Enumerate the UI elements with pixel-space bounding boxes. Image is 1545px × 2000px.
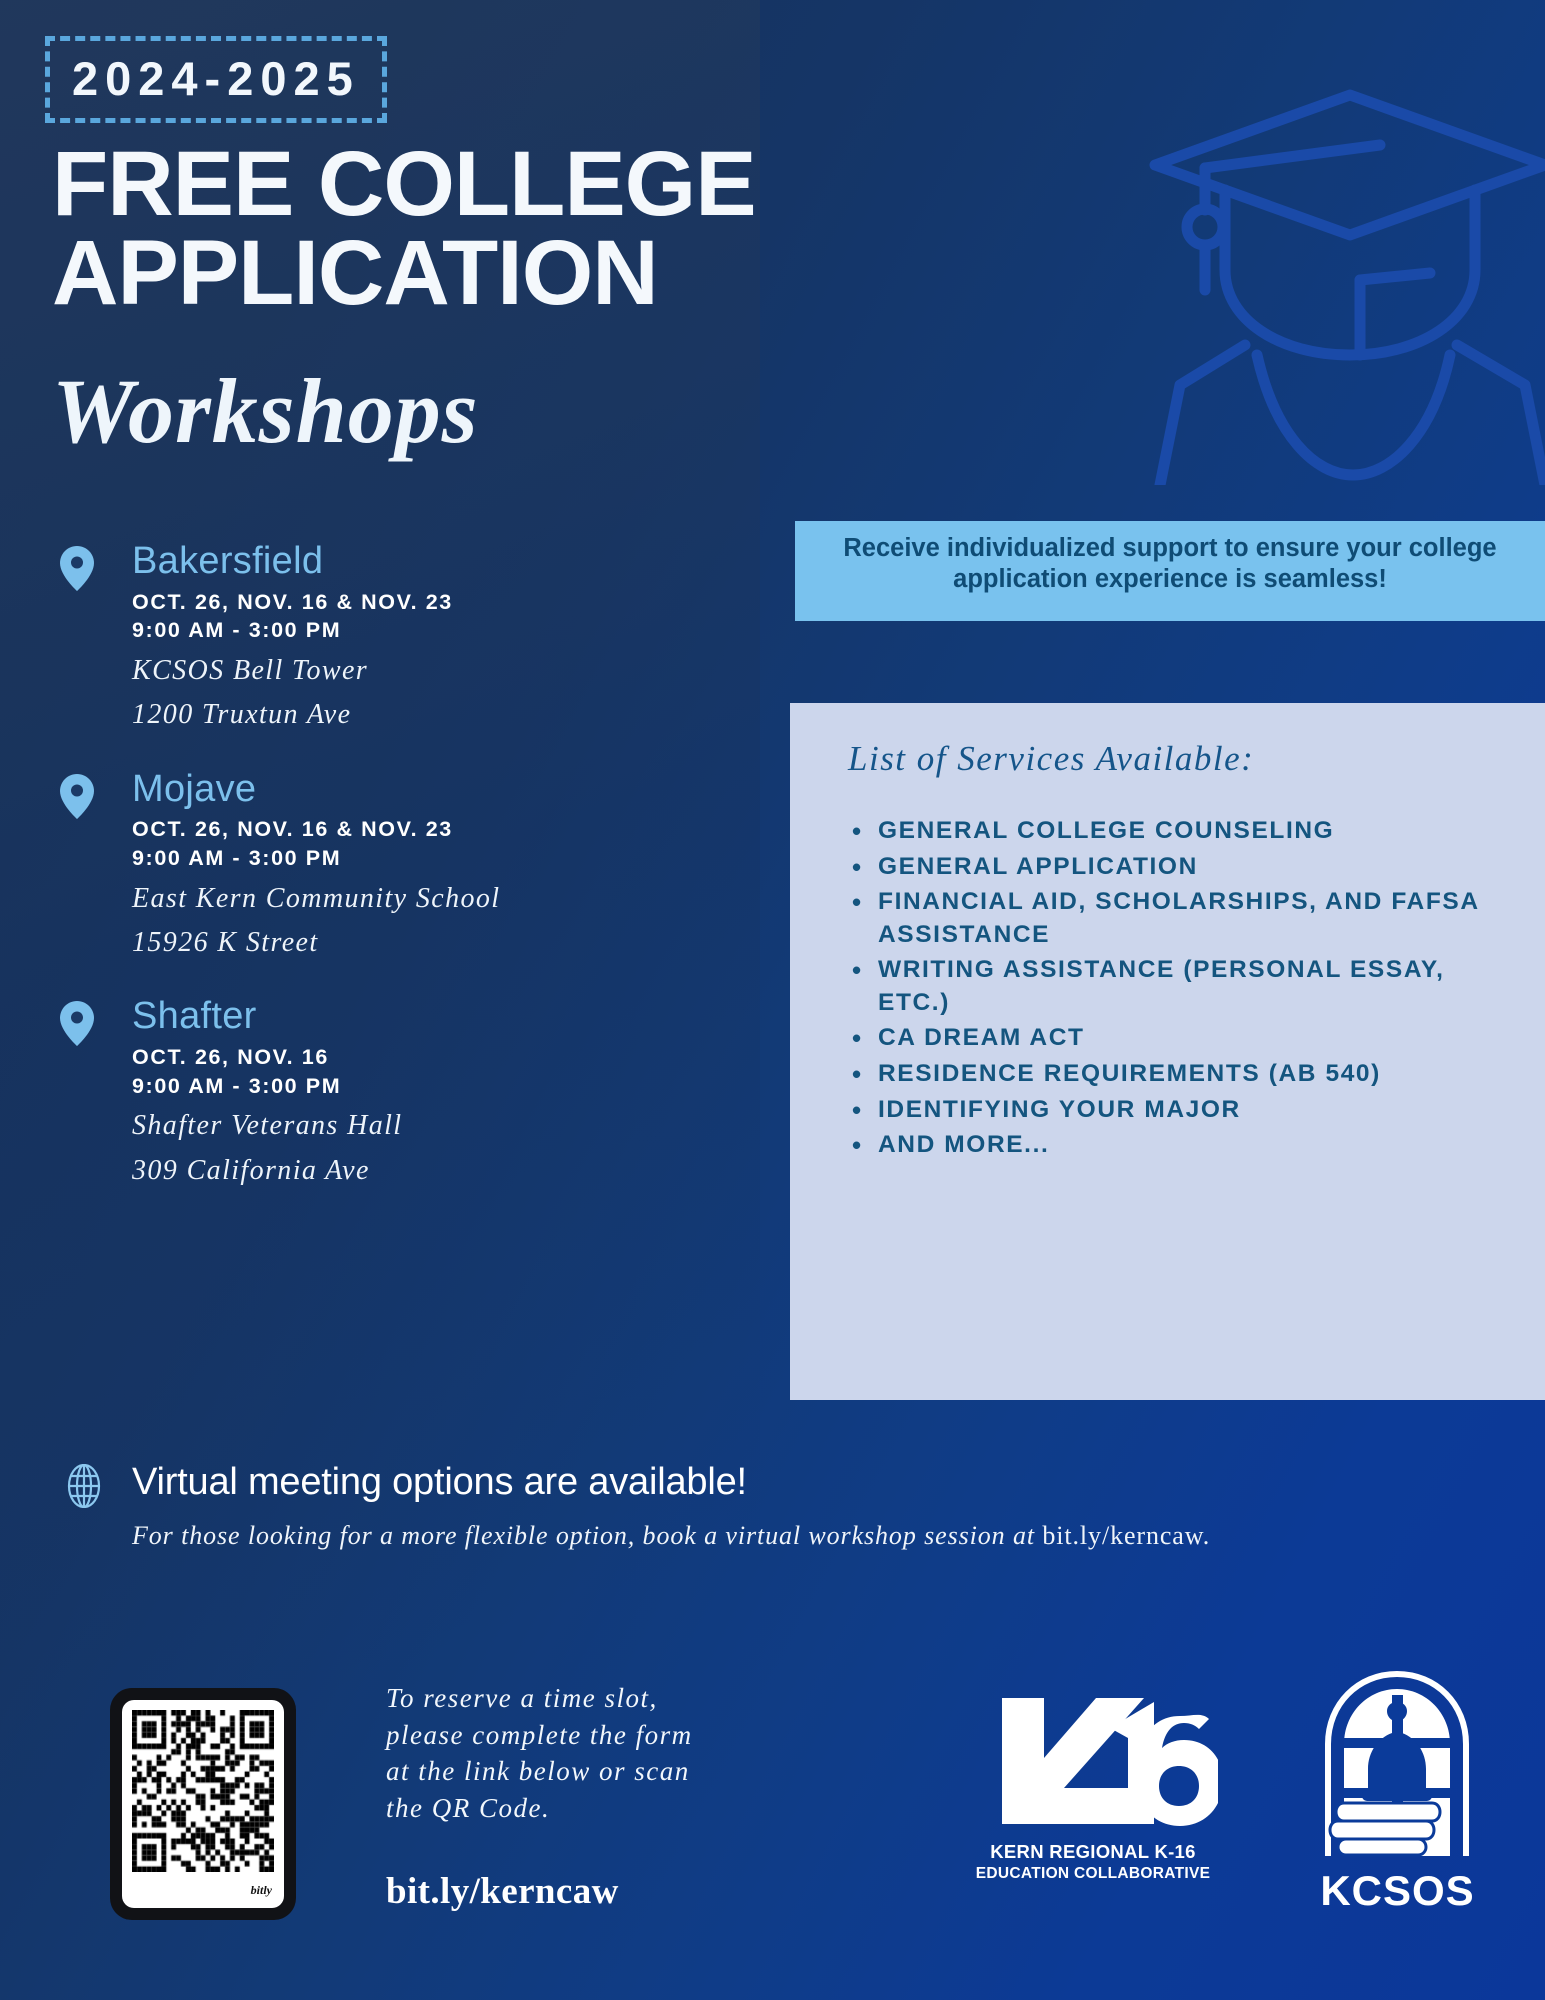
location-name: Bakersfield xyxy=(132,540,740,584)
list-item: RESIDENCE REQUIREMENTS (AB 540) xyxy=(848,1058,1517,1091)
reserve-instructions: To reserve a time slot, please complete … xyxy=(386,1680,716,1827)
list-item: CA DREAM ACT xyxy=(848,1022,1517,1055)
services-list: GENERAL COLLEGE COUNSELING GENERAL APPLI… xyxy=(848,815,1517,1162)
list-item: IDENTIFYING YOUR MAJOR xyxy=(848,1094,1517,1127)
location-time: 9:00 AM - 3:00 PM xyxy=(132,616,740,645)
services-panel: List of Services Available: GENERAL COLL… xyxy=(790,703,1545,1400)
kcsos-logo-text: KCSOS xyxy=(1300,1867,1495,1915)
list-item: GENERAL APPLICATION xyxy=(848,851,1517,884)
location-mojave: Mojave OCT. 26, NOV. 16 & NOV. 23 9:00 A… xyxy=(60,768,740,962)
poster-root: 2024-2025 FREE COLLEGE APPLICATION Works… xyxy=(0,0,1545,2000)
location-venue: KCSOS Bell Tower xyxy=(132,653,740,689)
location-address: 15926 K Street xyxy=(132,925,740,961)
list-item: FINANCIAL AID, SCHOLARSHIPS, AND FAFSA A… xyxy=(848,886,1517,951)
page-title: FREE COLLEGE APPLICATION xyxy=(52,140,952,318)
reserve-link[interactable]: bit.ly/kerncaw xyxy=(386,1870,619,1913)
virtual-section: Virtual meeting options are available! F… xyxy=(60,1462,1360,1554)
k16-logo-line-2: EDUCATION COLLABORATIVE xyxy=(968,1865,1218,1883)
location-bakersfield: Bakersfield OCT. 26, NOV. 16 & NOV. 23 9… xyxy=(60,540,740,734)
script-subtitle: Workshops xyxy=(52,358,479,464)
kern-regional-k16-logo: KERN REGIONAL K-16 EDUCATION COLLABORATI… xyxy=(968,1672,1218,1883)
location-name: Mojave xyxy=(132,768,740,812)
title-line-2: APPLICATION xyxy=(52,229,952,318)
globe-icon xyxy=(62,1464,106,1508)
location-dates: OCT. 26, NOV. 16 & NOV. 23 xyxy=(132,815,740,844)
location-time: 9:00 AM - 3:00 PM xyxy=(132,1072,740,1101)
virtual-headline: Virtual meeting options are available! xyxy=(132,1461,747,1503)
map-pin-icon xyxy=(60,774,94,819)
location-venue: Shafter Veterans Hall xyxy=(132,1108,740,1144)
services-heading: List of Services Available: xyxy=(848,739,1517,779)
qr-code-inner: bitly xyxy=(122,1700,284,1908)
k16-mark-icon xyxy=(968,1672,1218,1837)
virtual-description-text: For those looking for a more flexible op… xyxy=(132,1521,1042,1550)
bitly-wordmark: bitly xyxy=(251,1883,272,1898)
list-item: GENERAL COLLEGE COUNSELING xyxy=(848,815,1517,848)
virtual-headline-row: Virtual meeting options are available! xyxy=(60,1462,1360,1504)
year-badge: 2024-2025 xyxy=(45,36,387,123)
location-address: 1200 Truxtun Ave xyxy=(132,697,740,733)
kcsos-window-bell-icon xyxy=(1300,1660,1495,1860)
map-pin-icon xyxy=(60,1001,94,1046)
location-name: Shafter xyxy=(132,995,740,1039)
qr-code-image xyxy=(132,1710,274,1872)
location-address: 309 California Ave xyxy=(132,1153,740,1189)
callout-banner: Receive individualized support to ensure… xyxy=(795,521,1545,621)
location-venue: East Kern Community School xyxy=(132,881,740,917)
qr-code[interactable]: bitly xyxy=(110,1688,296,1920)
location-shafter: Shafter OCT. 26, NOV. 16 9:00 AM - 3:00 … xyxy=(60,995,740,1189)
title-line-1: FREE COLLEGE xyxy=(52,133,756,235)
kcsos-logo: KCSOS xyxy=(1300,1660,1495,1915)
graduate-watermark-icon xyxy=(1145,55,1545,485)
location-dates: OCT. 26, NOV. 16 & NOV. 23 xyxy=(132,588,740,617)
virtual-link[interactable]: bit.ly/kerncaw. xyxy=(1042,1521,1210,1550)
k16-logo-line-1: KERN REGIONAL K-16 xyxy=(968,1841,1218,1863)
list-item: AND MORE... xyxy=(848,1129,1517,1162)
location-dates: OCT. 26, NOV. 16 xyxy=(132,1043,740,1072)
locations-list: Bakersfield OCT. 26, NOV. 16 & NOV. 23 9… xyxy=(60,540,740,1223)
map-pin-icon xyxy=(60,546,94,591)
location-time: 9:00 AM - 3:00 PM xyxy=(132,844,740,873)
list-item: WRITING ASSISTANCE (PERSONAL ESSAY, ETC.… xyxy=(848,954,1517,1019)
virtual-description: For those looking for a more flexible op… xyxy=(60,1518,1250,1554)
